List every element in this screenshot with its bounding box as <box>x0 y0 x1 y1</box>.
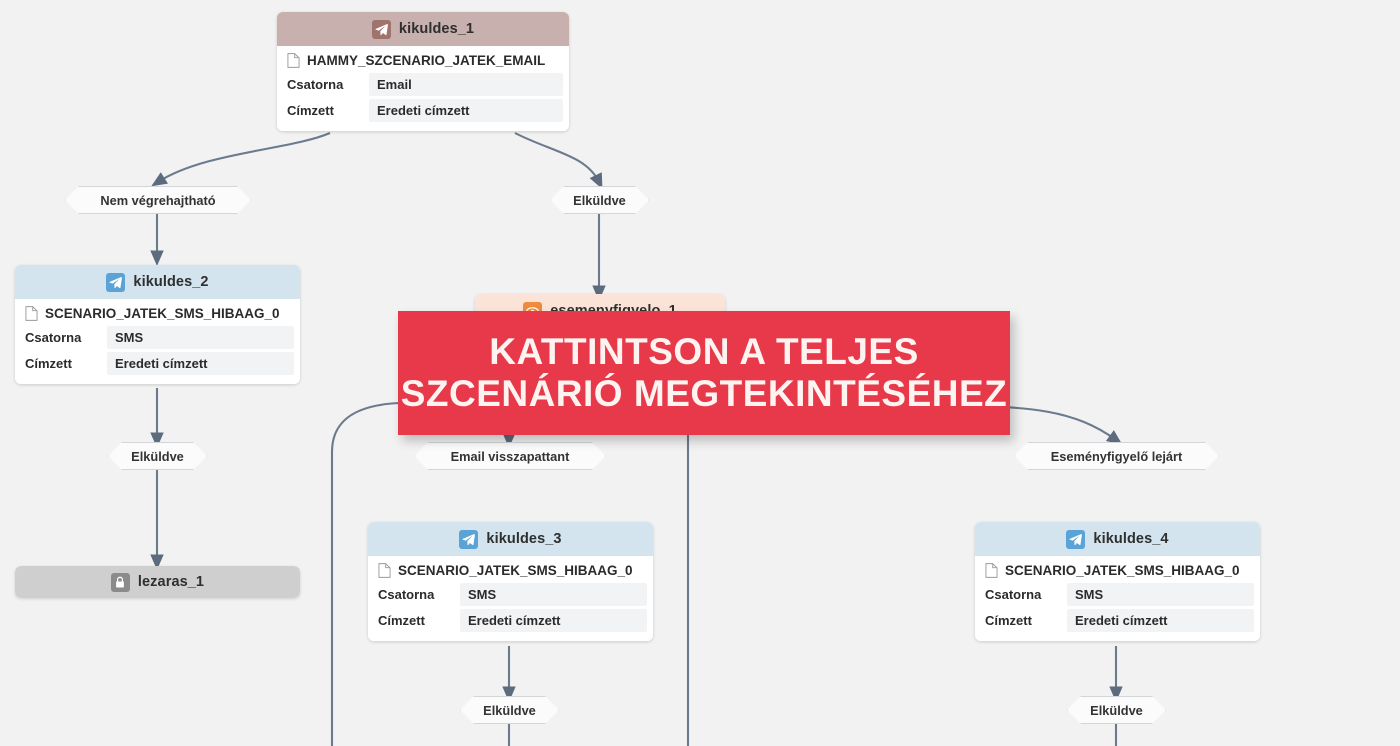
recipient-value: Eredeti címzett <box>369 99 563 122</box>
condition-label: Elküldve <box>131 449 184 464</box>
node-lezaras-1[interactable]: lezaras_1 <box>15 566 300 598</box>
node-title: kikuldes_4 <box>1093 531 1168 547</box>
condition-esemenyfigyelo-lejart[interactable]: Eseményfigyelő lejárt <box>1014 442 1219 470</box>
paper-plane-icon <box>459 530 478 549</box>
node-title: kikuldes_3 <box>486 531 561 547</box>
node-title: kikuldes_1 <box>399 21 474 37</box>
condition-label: Elküldve <box>1090 703 1143 718</box>
node-header: kikuldes_3 <box>368 522 653 556</box>
condition-label: Elküldve <box>573 193 626 208</box>
view-full-scenario-banner[interactable]: KATTINTSON A TELJES SZCENÁRIÓ MEGTEKINTÉ… <box>398 311 1010 435</box>
template-name: HAMMY_SZCENARIO_JATEK_EMAIL <box>307 53 545 68</box>
recipient-row: Címzett Eredeti címzett <box>368 609 653 632</box>
node-kikuldes-2[interactable]: kikuldes_2 SCENARIO_JATEK_SMS_HIBAAG_0 C… <box>15 265 300 384</box>
recipient-row: Címzett Eredeti címzett <box>975 609 1260 632</box>
lock-icon <box>111 573 130 592</box>
paper-plane-icon <box>106 273 125 292</box>
document-icon <box>287 53 300 68</box>
condition-email-visszapattant[interactable]: Email visszapattant <box>414 442 606 470</box>
node-body: SCENARIO_JATEK_SMS_HIBAAG_0 Csatorna SMS… <box>15 299 300 384</box>
channel-label: Csatorna <box>15 330 107 345</box>
channel-row: Csatorna SMS <box>15 326 300 349</box>
scenario-flow-canvas[interactable]: kikuldes_1 HAMMY_SZCENARIO_JATEK_EMAIL C… <box>0 0 1400 746</box>
condition-elkuldve-3[interactable]: Elküldve <box>460 696 559 724</box>
paper-plane-icon <box>1066 530 1085 549</box>
node-header: kikuldes_1 <box>277 12 569 46</box>
channel-label: Csatorna <box>975 587 1067 602</box>
document-icon <box>378 563 391 578</box>
recipient-value: Eredeti címzett <box>1067 609 1254 632</box>
node-kikuldes-4[interactable]: kikuldes_4 SCENARIO_JATEK_SMS_HIBAAG_0 C… <box>975 522 1260 641</box>
paper-plane-icon <box>372 20 391 39</box>
recipient-row: Címzett Eredeti címzett <box>15 352 300 375</box>
node-kikuldes-3[interactable]: kikuldes_3 SCENARIO_JATEK_SMS_HIBAAG_0 C… <box>368 522 653 641</box>
channel-label: Csatorna <box>277 77 369 92</box>
template-row: SCENARIO_JATEK_SMS_HIBAAG_0 <box>15 299 300 326</box>
node-header: lezaras_1 <box>15 566 300 598</box>
channel-label: Csatorna <box>368 587 460 602</box>
condition-elkuldve-2[interactable]: Elküldve <box>108 442 207 470</box>
node-title: lezaras_1 <box>138 574 204 590</box>
recipient-label: Címzett <box>975 613 1067 628</box>
recipient-label: Címzett <box>277 103 369 118</box>
channel-value: SMS <box>107 326 294 349</box>
recipient-value: Eredeti címzett <box>460 609 647 632</box>
condition-label: Eseményfigyelő lejárt <box>1051 449 1183 464</box>
condition-label: Elküldve <box>483 703 536 718</box>
document-icon <box>25 306 38 321</box>
template-row: SCENARIO_JATEK_SMS_HIBAAG_0 <box>975 556 1260 583</box>
channel-value: SMS <box>1067 583 1254 606</box>
channel-row: Csatorna SMS <box>368 583 653 606</box>
recipient-row: Címzett Eredeti címzett <box>277 99 569 122</box>
node-body: HAMMY_SZCENARIO_JATEK_EMAIL Csatorna Ema… <box>277 46 569 131</box>
condition-label: Email visszapattant <box>451 449 570 464</box>
template-name: SCENARIO_JATEK_SMS_HIBAAG_0 <box>398 563 633 578</box>
channel-value: Email <box>369 73 563 96</box>
template-row: HAMMY_SZCENARIO_JATEK_EMAIL <box>277 46 569 73</box>
node-title: kikuldes_2 <box>133 274 208 290</box>
banner-line-1: KATTINTSON A TELJES <box>489 331 919 373</box>
template-row: SCENARIO_JATEK_SMS_HIBAAG_0 <box>368 556 653 583</box>
document-icon <box>985 563 998 578</box>
condition-nem-vegrehajthato[interactable]: Nem végrehajtható <box>65 186 251 214</box>
node-kikuldes-1[interactable]: kikuldes_1 HAMMY_SZCENARIO_JATEK_EMAIL C… <box>277 12 569 131</box>
condition-elkuldve-1[interactable]: Elküldve <box>550 186 649 214</box>
recipient-value: Eredeti címzett <box>107 352 294 375</box>
channel-row: Csatorna SMS <box>975 583 1260 606</box>
condition-label: Nem végrehajtható <box>100 193 215 208</box>
template-name: SCENARIO_JATEK_SMS_HIBAAG_0 <box>1005 563 1240 578</box>
template-name: SCENARIO_JATEK_SMS_HIBAAG_0 <box>45 306 280 321</box>
recipient-label: Címzett <box>368 613 460 628</box>
node-header: kikuldes_2 <box>15 265 300 299</box>
channel-value: SMS <box>460 583 647 606</box>
node-body: SCENARIO_JATEK_SMS_HIBAAG_0 Csatorna SMS… <box>975 556 1260 641</box>
node-header: kikuldes_4 <box>975 522 1260 556</box>
node-body: SCENARIO_JATEK_SMS_HIBAAG_0 Csatorna SMS… <box>368 556 653 641</box>
banner-line-2: SZCENÁRIÓ MEGTEKINTÉSÉHEZ <box>401 373 1008 415</box>
recipient-label: Címzett <box>15 356 107 371</box>
condition-elkuldve-4[interactable]: Elküldve <box>1067 696 1166 724</box>
channel-row: Csatorna Email <box>277 73 569 96</box>
